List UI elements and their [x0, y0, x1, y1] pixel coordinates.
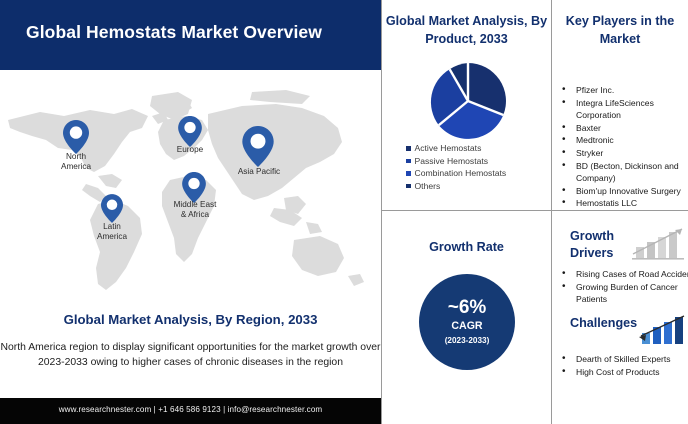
key-players-list: • Pfizer Inc. • Integra LifeSciences Cor… — [562, 84, 688, 210]
legend-label: Combination Hemostats — [415, 168, 507, 179]
legend-item: Others — [406, 181, 556, 192]
legend-swatch-icon — [406, 184, 411, 189]
list-item-label: Hemostatis LLC — [576, 197, 637, 210]
bullet-icon: • — [562, 160, 576, 173]
map-pin-label-asia-pacific: Asia Pacific — [228, 167, 290, 177]
map-pin-asia-pacific[interactable] — [242, 126, 274, 167]
pie-chart — [422, 59, 514, 148]
bullet-icon: • — [562, 353, 576, 366]
legend-item: Combination Hemostats — [406, 168, 556, 179]
map-pin-label-europe: Europe — [160, 145, 220, 155]
location-pin-icon — [101, 194, 123, 223]
map-pin-label-latin-america: Latin America — [82, 222, 142, 241]
list-item-label: Dearth of Skilled Experts — [576, 353, 671, 366]
map-pin-latin-america[interactable] — [101, 194, 123, 223]
bullet-icon: • — [562, 147, 576, 160]
legend-label: Others — [415, 181, 441, 192]
legend-label: Active Hemostats — [415, 143, 482, 154]
list-item-label: Pfizer Inc. — [576, 84, 614, 97]
product-analysis-title: Global Market Analysis, By Product, 2033 — [382, 12, 551, 48]
list-item-label: Stryker — [576, 147, 603, 160]
bullet-icon: • — [562, 185, 576, 198]
list-item-label: Integra LifeSciences Corporation — [576, 97, 688, 122]
footer-contact-text: www.researchnester.com | +1 646 586 9123… — [0, 405, 381, 414]
pie-legend: Active Hemostats Passive Hemostats Combi… — [406, 143, 556, 193]
ascending-bars-arrow-icon — [630, 227, 686, 261]
list-item-label: Medtronic — [576, 134, 614, 147]
bullet-icon: • — [562, 366, 576, 379]
challenges-list: • Dearth of Skilled Experts • High Cost … — [562, 353, 688, 378]
legend-item: Active Hemostats — [406, 143, 556, 154]
infographic-root: Global Hemostats Market Overview — [0, 0, 688, 424]
list-item-label: Rising Cases of Road Accidents — [576, 268, 688, 281]
list-item-label: Baxter — [576, 122, 601, 135]
cagr-circle: ~6% CAGR (2023-2033) — [419, 274, 515, 370]
map-pin-label-north-america: North America — [46, 152, 106, 171]
cagr-label: CAGR — [451, 319, 482, 334]
bullet-icon: • — [562, 134, 576, 147]
list-item: • Pfizer Inc. — [562, 84, 688, 97]
list-item: • High Cost of Products — [562, 366, 688, 379]
map-pin-north-america[interactable] — [63, 120, 89, 154]
list-item: • Baxter — [562, 122, 688, 135]
location-pin-icon — [182, 172, 206, 203]
list-item: • Biom'up Innovative Surgery — [562, 185, 688, 198]
key-players-panel: Key Players in the Market • Pfizer Inc. … — [552, 0, 688, 210]
bullet-icon: • — [562, 268, 576, 281]
growth-drivers-list: • Rising Cases of Road Accidents • Growi… — [562, 268, 688, 306]
legend-swatch-icon — [406, 171, 411, 176]
map-pin-middle-east-africa[interactable] — [182, 172, 206, 203]
bullet-icon: • — [562, 97, 576, 110]
list-item: • Integra LifeSciences Corporation — [562, 97, 688, 122]
location-pin-icon — [178, 116, 202, 147]
legend-label: Passive Hemostats — [415, 156, 489, 167]
legend-swatch-icon — [406, 159, 411, 164]
list-item-label: Biom'up Innovative Surgery — [576, 185, 681, 198]
list-item: • Medtronic — [562, 134, 688, 147]
list-item: • Rising Cases of Road Accidents — [562, 268, 688, 281]
legend-swatch-icon — [406, 146, 411, 151]
bullet-icon: • — [562, 281, 576, 294]
region-analysis-title: Global Market Analysis, By Region, 2033 — [0, 312, 381, 327]
bars-declining-arrow-icon — [634, 315, 688, 347]
list-item: • Dearth of Skilled Experts — [562, 353, 688, 366]
cagr-period: (2023-2033) — [445, 334, 490, 347]
bullet-icon: • — [562, 197, 576, 210]
list-item: • Growing Burden of Cancer Patients — [562, 281, 688, 306]
key-players-title: Key Players in the Market — [552, 12, 688, 48]
page-title: Global Hemostats Market Overview — [26, 22, 356, 43]
legend-item: Passive Hemostats — [406, 156, 556, 167]
product-analysis-panel: Global Market Analysis, By Product, 2033 — [382, 0, 551, 210]
list-item-label: BD (Becton, Dickinson and Company) — [576, 160, 688, 185]
location-pin-icon — [63, 120, 89, 154]
growth-bar-chart-icon — [630, 227, 686, 266]
map-pin-label-middle-east-africa: Middle East & Africa — [159, 200, 231, 219]
drivers-challenges-panel: Growth Drivers • Rising Cases of Road Ac… — [552, 211, 688, 424]
list-item-label: Growing Burden of Cancer Patients — [576, 281, 688, 306]
bullet-icon: • — [562, 122, 576, 135]
bullet-icon: • — [562, 84, 576, 97]
list-item: • Stryker — [562, 147, 688, 160]
list-item-label: High Cost of Products — [576, 366, 660, 379]
location-pin-icon — [242, 126, 274, 167]
cagr-value: ~6% — [448, 297, 487, 319]
region-analysis-description: North America region to display signific… — [0, 341, 385, 370]
left-panel: Global Hemostats Market Overview — [0, 0, 381, 424]
world-map: North America Latin America Europe — [0, 72, 381, 304]
growth-rate-title: Growth Rate — [382, 240, 551, 254]
challenges-bar-chart-icon — [634, 315, 688, 352]
pie-chart-svg — [422, 59, 514, 143]
list-item: • BD (Becton, Dickinson and Company) — [562, 160, 688, 185]
map-pin-europe[interactable] — [178, 116, 202, 147]
growth-rate-panel: Growth Rate ~6% CAGR (2023-2033) — [382, 211, 551, 424]
list-item: • Hemostatis LLC — [562, 197, 688, 210]
